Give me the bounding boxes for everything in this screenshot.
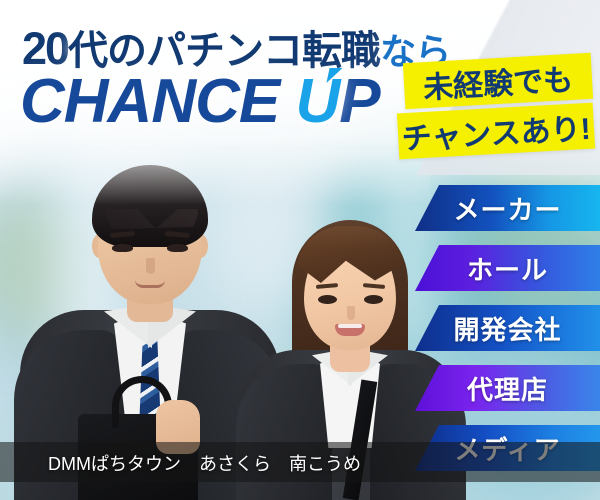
badge-label: チャンスあり! <box>400 104 591 158</box>
tag-label: メーカー <box>453 190 561 227</box>
woman-eye-left <box>318 295 337 304</box>
caption-credits: DMMぱちタウン あさくら 南こうめ <box>48 450 361 476</box>
tag-hall[interactable]: ホール <box>415 245 600 291</box>
woman-eye-right <box>364 295 383 304</box>
man-mouth <box>135 280 165 288</box>
logo-u-accent: U <box>295 66 339 137</box>
logo-p: P <box>339 67 379 136</box>
logo-chance: CHANCE <box>20 67 295 136</box>
tag-label: 代理店 <box>467 370 548 407</box>
tag-label: 開発会社 <box>453 310 561 347</box>
badge-label: 未経験でも <box>422 55 574 107</box>
man-eye-left <box>112 244 133 252</box>
woman-nose <box>347 306 355 320</box>
tag-development-company[interactable]: 開発会社 <box>415 305 600 351</box>
tag-maker[interactable]: メーカー <box>415 185 600 231</box>
tag-label: ホール <box>467 250 548 287</box>
tag-agency[interactable]: 代理店 <box>415 365 600 411</box>
recruitment-banner: 20代のパチンコ転職なら CHANCE UP 未経験でも チャンスあり! メーカ… <box>0 0 600 500</box>
woman-mouth <box>335 324 365 336</box>
man-eye-right <box>167 244 188 252</box>
logo-chance-up: CHANCE UP <box>20 66 380 137</box>
man-nose <box>146 258 155 274</box>
